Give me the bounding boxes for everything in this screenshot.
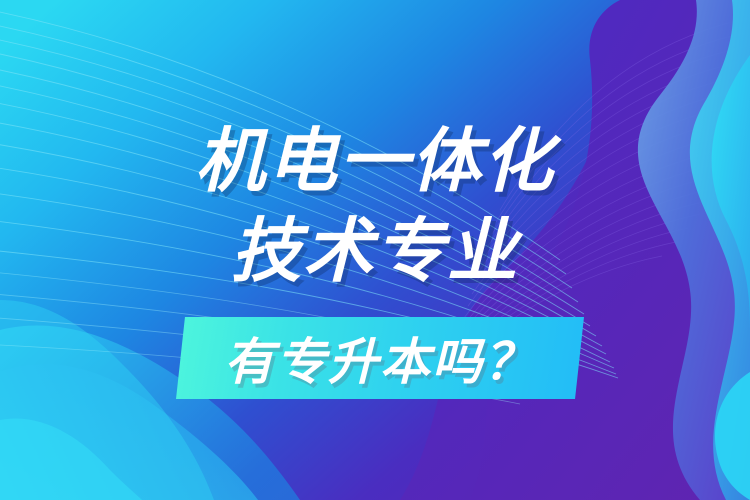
highlight-question-text: 有专升本吗？	[176, 317, 584, 399]
title-line-1: 机电一体化	[0, 122, 750, 200]
poster-banner: 机电一体化 技术专业 有专升本吗？	[0, 0, 750, 500]
highlight-banner: 有专升本吗？	[176, 317, 584, 399]
headline-group: 机电一体化 技术专业 有专升本吗？	[0, 0, 750, 500]
title-line-2: 技术专业	[0, 212, 750, 290]
